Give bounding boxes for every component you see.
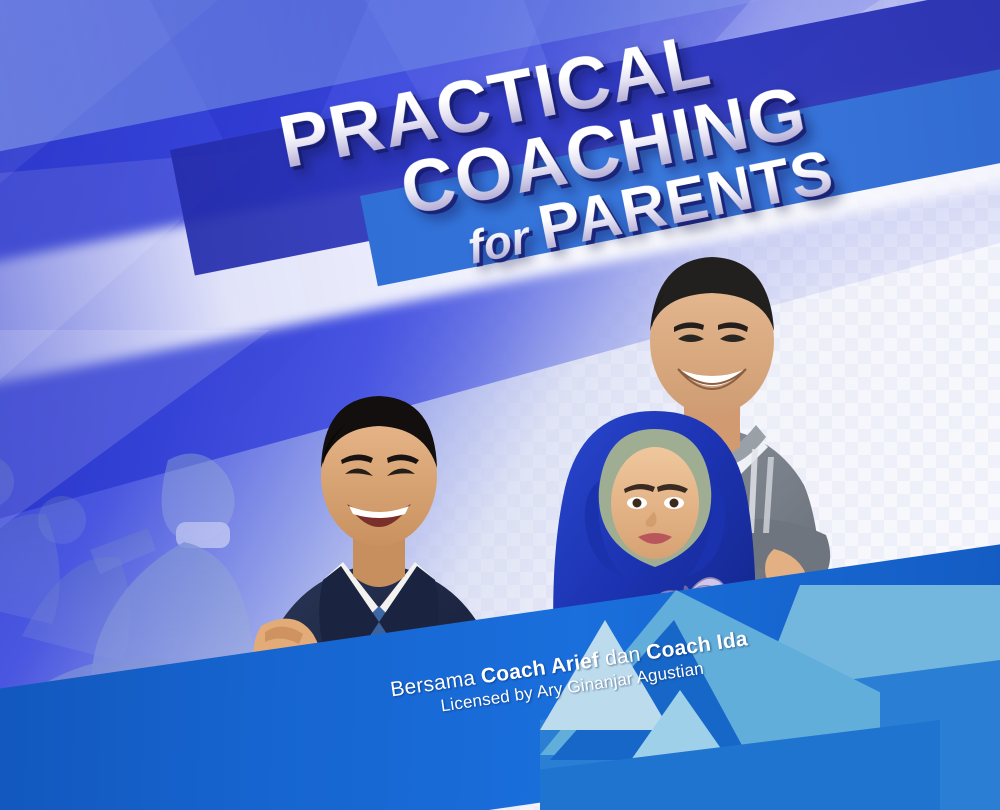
promotional-poster: ESQ — [0, 0, 1000, 810]
title-word-for: for — [463, 208, 545, 273]
